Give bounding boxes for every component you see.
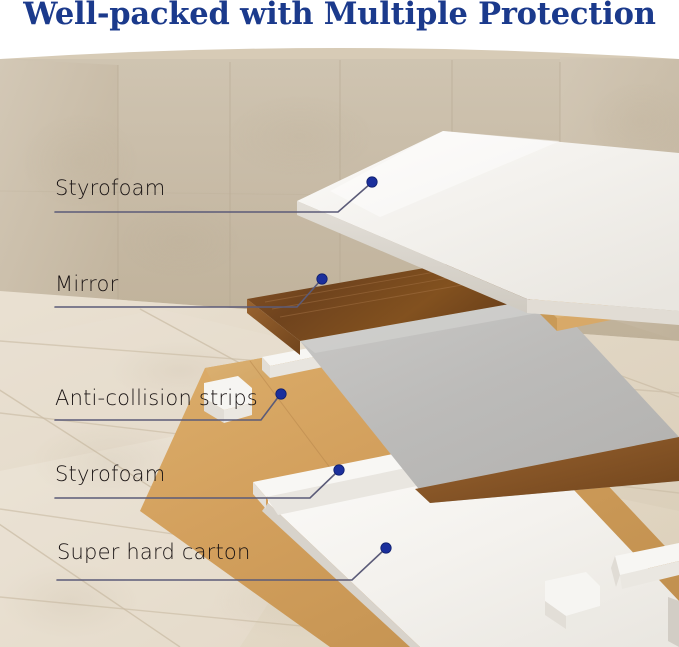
foam-corner-block-bottom-left [545,572,600,629]
callout-label-styrofoam-bottom: Styrofoam [55,462,165,486]
page-title: Well-packed with Multiple Protection [23,0,655,31]
callout-label-super-hard-carton: Super hard carton [57,540,251,564]
callout-label-styrofoam-top: Styrofoam [55,176,165,200]
callout-label-mirror: Mirror [55,272,118,296]
infographic-root: Well-packed with Multiple Protection [0,0,679,647]
title-banner: Well-packed with Multiple Protection [0,0,679,42]
callout-label-anti-collision-strips: Anti-collision strips [55,386,258,410]
